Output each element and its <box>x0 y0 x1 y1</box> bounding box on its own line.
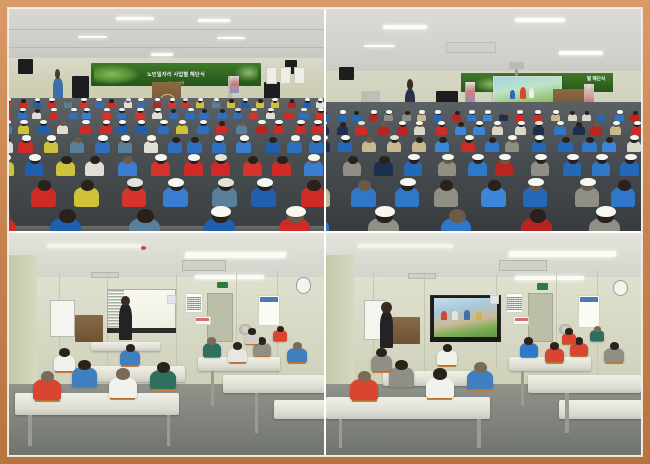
person-head <box>307 180 320 191</box>
person-head <box>618 180 631 191</box>
table-leg <box>477 419 481 448</box>
person-head <box>35 109 40 113</box>
participant-head <box>293 342 303 350</box>
table-leg <box>255 393 259 433</box>
participant-body <box>371 355 392 371</box>
white-cap <box>535 154 547 161</box>
wall-board-header <box>580 297 598 301</box>
banner-title-text: 별 해단식 <box>587 76 605 82</box>
wall-speaker <box>18 59 32 75</box>
white-cap <box>20 120 27 124</box>
ceiling-vent <box>446 42 496 53</box>
table-leg <box>211 371 214 407</box>
ceiling-light <box>559 51 603 55</box>
ceiling-light <box>195 275 265 279</box>
wall-panel-seam <box>176 275 177 368</box>
person-body <box>630 114 639 121</box>
korean-flag <box>230 76 239 94</box>
person-head <box>220 109 225 113</box>
ceiling-vent <box>499 260 546 271</box>
white-cap <box>272 98 277 101</box>
white-cap <box>528 178 544 187</box>
person-head <box>488 180 501 191</box>
person-body <box>256 125 268 134</box>
floor-speaker <box>72 76 89 98</box>
white-cap <box>240 135 249 140</box>
table-leg <box>339 419 343 448</box>
whiteboard <box>50 300 75 338</box>
white-cap <box>126 98 131 101</box>
participant-head <box>474 362 487 373</box>
participant-body <box>72 367 97 386</box>
person-head <box>502 111 507 115</box>
person-body <box>158 125 170 134</box>
person-body <box>100 125 112 134</box>
person-head <box>66 99 70 103</box>
person-body <box>57 125 69 134</box>
white-cap <box>535 110 541 113</box>
white-cap <box>29 154 41 161</box>
white-cap <box>188 154 200 161</box>
white-cap <box>147 135 156 140</box>
person-head <box>229 99 233 103</box>
person-body <box>326 141 330 152</box>
white-cap <box>518 121 525 125</box>
presenter <box>119 304 132 340</box>
korean-flag <box>466 82 475 104</box>
ceiling-light <box>508 251 616 257</box>
screen-figure <box>510 90 515 99</box>
banner-leaf-graphic <box>94 65 138 84</box>
white-cap <box>198 98 203 101</box>
white-cap <box>257 178 273 187</box>
white-cap <box>170 98 175 101</box>
person-head <box>248 156 258 165</box>
participant-head <box>565 328 572 334</box>
white-cap <box>211 206 231 217</box>
ceiling-light <box>198 19 230 22</box>
person-body <box>37 125 49 134</box>
white-cap <box>98 135 107 140</box>
person-head <box>191 137 199 144</box>
white-cap <box>81 98 86 101</box>
person-head <box>586 137 594 143</box>
presenter <box>380 311 394 349</box>
wall-panel-seam <box>424 273 425 371</box>
person-head <box>440 180 453 191</box>
white-cap <box>218 178 234 187</box>
white-cap <box>312 135 321 140</box>
person-body <box>326 126 329 135</box>
person-body <box>18 125 30 134</box>
participant-body <box>437 350 457 365</box>
screen-bottom-bar <box>430 337 501 341</box>
participant-head <box>575 337 584 344</box>
white-cap <box>183 98 188 101</box>
participant-head <box>550 342 560 350</box>
white-cap <box>435 110 441 113</box>
wall-picture-frame <box>266 67 277 85</box>
person-head <box>358 180 371 191</box>
classroom-table <box>223 375 324 393</box>
person-body <box>135 125 147 134</box>
photo-frame-mat: 노인일자리 사업별 해단식 충주시니어클럽 <box>7 7 643 457</box>
participant-body <box>426 377 454 398</box>
person-head <box>137 209 154 223</box>
ceiling-light <box>185 252 287 258</box>
wall-speaker <box>339 67 355 80</box>
person-body <box>452 114 461 121</box>
white-cap <box>617 110 623 113</box>
person-head <box>562 137 570 143</box>
white-cap <box>127 178 143 187</box>
photo-bottom-right[interactable] <box>326 233 641 455</box>
white-cap <box>155 154 167 161</box>
white-cap <box>419 110 425 113</box>
person-head <box>633 111 638 115</box>
person-head <box>277 156 287 165</box>
white-cap <box>291 135 300 140</box>
ceiling-light <box>357 244 452 248</box>
person-body <box>295 125 307 134</box>
participant-body <box>389 367 414 386</box>
white-cap <box>596 154 608 161</box>
door <box>528 293 553 342</box>
person-body <box>216 125 228 134</box>
person-body <box>197 125 209 134</box>
video-figure <box>452 311 458 319</box>
ceiling-light <box>116 17 154 21</box>
ceiling-vent <box>408 273 436 279</box>
presenter <box>53 78 62 100</box>
ceiling-light <box>217 37 245 40</box>
participant-body <box>54 355 75 371</box>
classroom-table <box>559 400 641 420</box>
screen-figure <box>529 88 534 98</box>
white-cap <box>386 110 392 113</box>
participant-head <box>610 342 620 350</box>
participant-head <box>157 362 170 373</box>
participant-body <box>33 379 61 400</box>
table-leg <box>167 415 171 446</box>
white-cap <box>305 98 310 101</box>
notice-red-text <box>515 318 528 321</box>
calendar-grid <box>187 297 202 309</box>
wall-picture-frame <box>280 67 291 85</box>
white-cap <box>96 98 101 101</box>
wall-board-header <box>260 297 278 301</box>
white-cap <box>22 135 31 140</box>
door <box>207 293 232 342</box>
person-head <box>348 156 358 164</box>
photo-top-left[interactable]: 노인일자리 사업별 해단식 충주시니어클럽 <box>9 9 324 231</box>
classroom-scene-2 <box>326 233 641 455</box>
white-cap <box>160 120 167 124</box>
person-head <box>123 156 133 165</box>
classroom-table <box>528 375 641 393</box>
white-cap <box>613 121 620 125</box>
white-cap <box>596 206 616 217</box>
person-head <box>109 99 113 103</box>
person-head <box>90 156 100 165</box>
participant-head <box>277 326 284 332</box>
banner-title-text: 노인일자리 사업별 해단식 <box>147 71 205 78</box>
wall-sign <box>167 295 176 304</box>
video-figure <box>441 311 448 320</box>
participant-head <box>248 328 255 334</box>
person-head <box>258 99 262 103</box>
white-cap <box>275 120 282 124</box>
white-cap <box>138 98 143 101</box>
white-cap <box>375 206 395 217</box>
person-head <box>290 99 294 103</box>
white-cap <box>297 120 304 124</box>
wooden-cabinet <box>392 317 420 344</box>
white-cap <box>103 120 110 124</box>
participant-head <box>594 326 601 332</box>
person-body <box>116 125 128 134</box>
table-leg <box>521 371 524 407</box>
ceiling-light <box>383 25 427 29</box>
photo-top-right[interactable]: 별 해단식 <box>326 9 641 231</box>
white-cap <box>535 121 542 125</box>
white-cap <box>215 135 224 140</box>
person-head <box>405 111 410 115</box>
table-leg <box>565 393 569 433</box>
white-cap <box>442 154 454 161</box>
white-cap <box>371 110 377 113</box>
participant-head <box>78 360 91 371</box>
person-head <box>172 137 180 144</box>
white-cap <box>400 178 416 187</box>
white-cap <box>168 178 184 187</box>
person-body <box>80 125 92 134</box>
person-head <box>61 156 71 165</box>
white-cap <box>308 154 320 161</box>
photo-bottom-left[interactable] <box>9 233 324 455</box>
exit-sign <box>537 283 548 290</box>
participant-head <box>258 337 267 344</box>
notice-red-text <box>196 318 209 321</box>
white-cap <box>485 110 491 113</box>
exit-sign <box>217 282 228 289</box>
person-head <box>21 99 25 103</box>
participant-head <box>207 337 216 344</box>
white-cap <box>340 110 346 113</box>
white-cap <box>121 135 130 140</box>
participant-body <box>273 330 287 341</box>
classroom-table <box>274 400 324 420</box>
participant-head <box>433 368 447 380</box>
white-cap <box>286 206 306 217</box>
participant-head <box>395 360 408 371</box>
white-cap <box>155 98 160 101</box>
white-cap <box>553 110 559 113</box>
white-cap <box>567 154 579 161</box>
person-body <box>533 114 542 121</box>
participant-head <box>524 337 533 344</box>
white-cap <box>517 110 523 113</box>
video-figure <box>464 310 470 320</box>
wall-picture-frame <box>294 67 305 85</box>
white-cap <box>580 178 596 187</box>
person-body <box>9 112 11 120</box>
person-head <box>530 209 547 223</box>
white-cap <box>314 120 321 124</box>
participant-body <box>109 377 137 398</box>
ceiling-vent <box>182 260 226 271</box>
white-cap <box>469 110 475 113</box>
white-cap <box>47 135 56 140</box>
person-body <box>326 114 329 121</box>
person-head <box>59 209 76 223</box>
person-head <box>74 137 82 144</box>
calendar-grid <box>507 297 522 309</box>
person-body <box>273 125 285 134</box>
table-leg <box>28 415 32 446</box>
person-head <box>38 180 51 191</box>
participant-head <box>233 342 243 350</box>
participant-body <box>120 350 140 365</box>
person-head <box>455 111 460 115</box>
ceiling-line <box>9 47 324 49</box>
person-body <box>9 161 14 176</box>
person-body <box>312 125 324 134</box>
auditorium-scene-2: 별 해단식 <box>326 9 641 231</box>
screen-figure <box>520 87 526 98</box>
white-cap <box>49 98 54 101</box>
white-cap <box>318 98 323 101</box>
white-cap <box>215 154 227 161</box>
classroom-table <box>326 397 490 419</box>
participant-head <box>116 368 130 380</box>
ceiling-line <box>9 29 324 31</box>
photo-frame: 노인일자리 사업별 해단식 충주시니어클럽 <box>0 0 650 464</box>
person-body <box>236 125 248 134</box>
ceiling-light <box>364 45 396 48</box>
screen-bottom-bar <box>107 328 176 332</box>
ceiling-projector <box>509 62 525 69</box>
white-cap <box>625 154 637 161</box>
ceiling-vent <box>91 272 119 278</box>
person-head <box>449 209 466 223</box>
participant-body <box>350 379 378 400</box>
white-cap <box>243 98 248 101</box>
classroom-scene-1 <box>9 233 324 455</box>
wooden-cabinet <box>75 315 103 342</box>
wall-sign <box>490 295 499 304</box>
presenter-head <box>381 302 391 313</box>
ceiling-light <box>47 244 142 248</box>
video-figure <box>476 312 482 320</box>
person-body <box>176 125 188 134</box>
projector-mount <box>515 69 518 76</box>
person-head <box>379 156 389 164</box>
person-head <box>594 122 600 127</box>
photo-grid: 노인일자리 사업별 해단식 충주시니어클럽 <box>9 9 641 455</box>
auditorium-scene-1: 노인일자리 사업별 해단식 충주시니어클럽 <box>9 9 324 231</box>
person-body <box>9 141 13 153</box>
person-head <box>439 137 447 143</box>
participant-body <box>590 330 604 341</box>
ceiling-light <box>515 18 565 22</box>
ceiling-light <box>78 36 106 39</box>
ceiling-light <box>151 53 173 55</box>
